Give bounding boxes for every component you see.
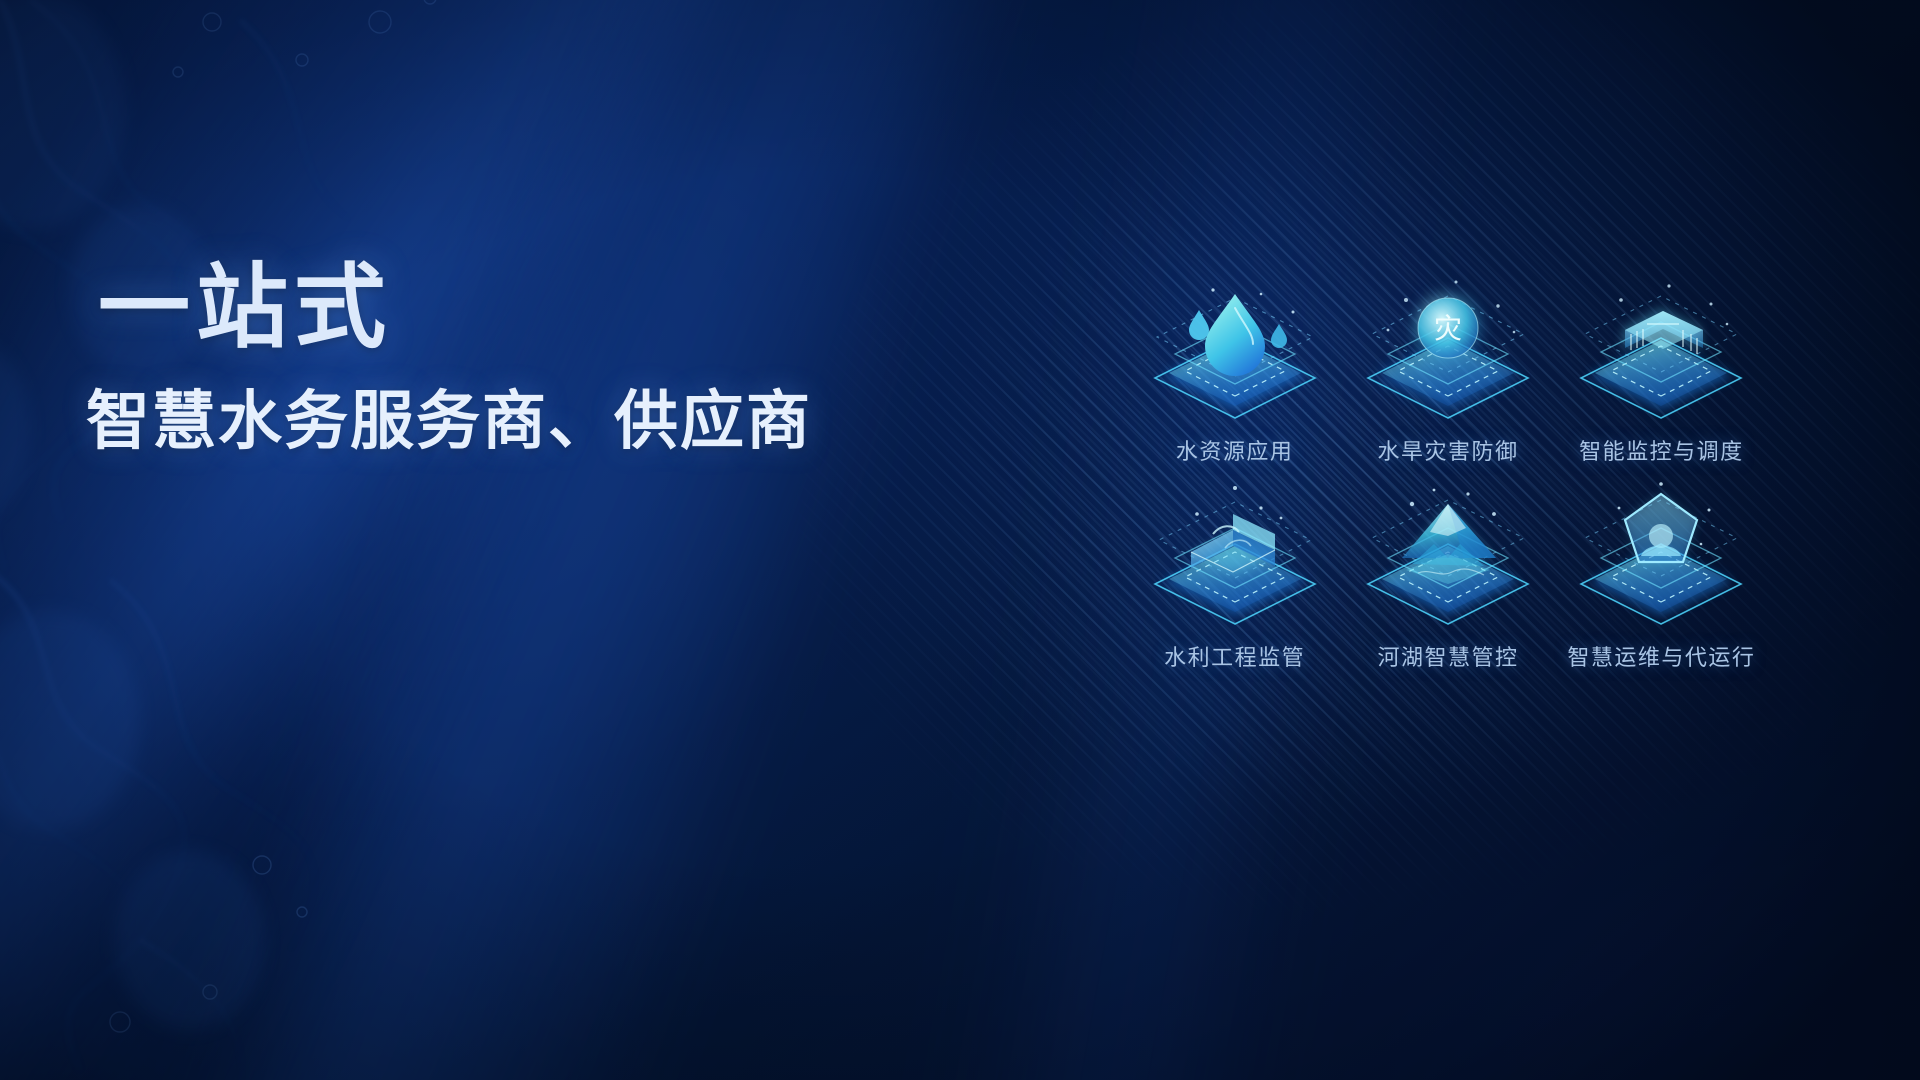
slide-canvas: 一站式 智慧水务服务商、供应商 <box>0 0 1920 1080</box>
capability-item-water-resource[interactable]: 水资源应用 <box>1128 272 1341 466</box>
water-drop-platform-icon <box>1135 272 1335 440</box>
capability-item-smart-ops-agency[interactable]: 智慧运维与代运行 <box>1555 478 1768 672</box>
hydro-structure-platform-icon <box>1135 478 1335 646</box>
disaster-sphere-platform-icon: 灾 <box>1348 272 1548 440</box>
capability-grid: 水资源应用 <box>1128 272 1768 672</box>
capability-item-flood-drought-defense[interactable]: 灾 水旱灾害防御 <box>1341 272 1554 466</box>
capability-item-smart-monitor-dispatch[interactable]: 智能监控与调度 <box>1555 272 1768 466</box>
dam-monitor-platform-icon <box>1561 272 1761 440</box>
capability-item-river-lake-control[interactable]: 河湖智慧管控 <box>1341 478 1554 672</box>
light-shaft-middle <box>153 0 1052 1080</box>
light-shaft-left <box>0 0 798 1080</box>
page-title: 一站式 <box>98 262 958 354</box>
page-subtitle: 智慧水务服务商、供应商 <box>86 388 958 455</box>
hero-text-block: 一站式 智慧水务服务商、供应商 <box>98 262 958 455</box>
shield-ops-platform-icon <box>1561 478 1761 646</box>
disaster-badge-character: 灾 <box>1434 313 1462 344</box>
ink-water-texture <box>0 0 670 1080</box>
mountain-river-platform-icon <box>1348 478 1548 646</box>
capability-item-hydro-project-supervision[interactable]: 水利工程监管 <box>1128 478 1341 672</box>
